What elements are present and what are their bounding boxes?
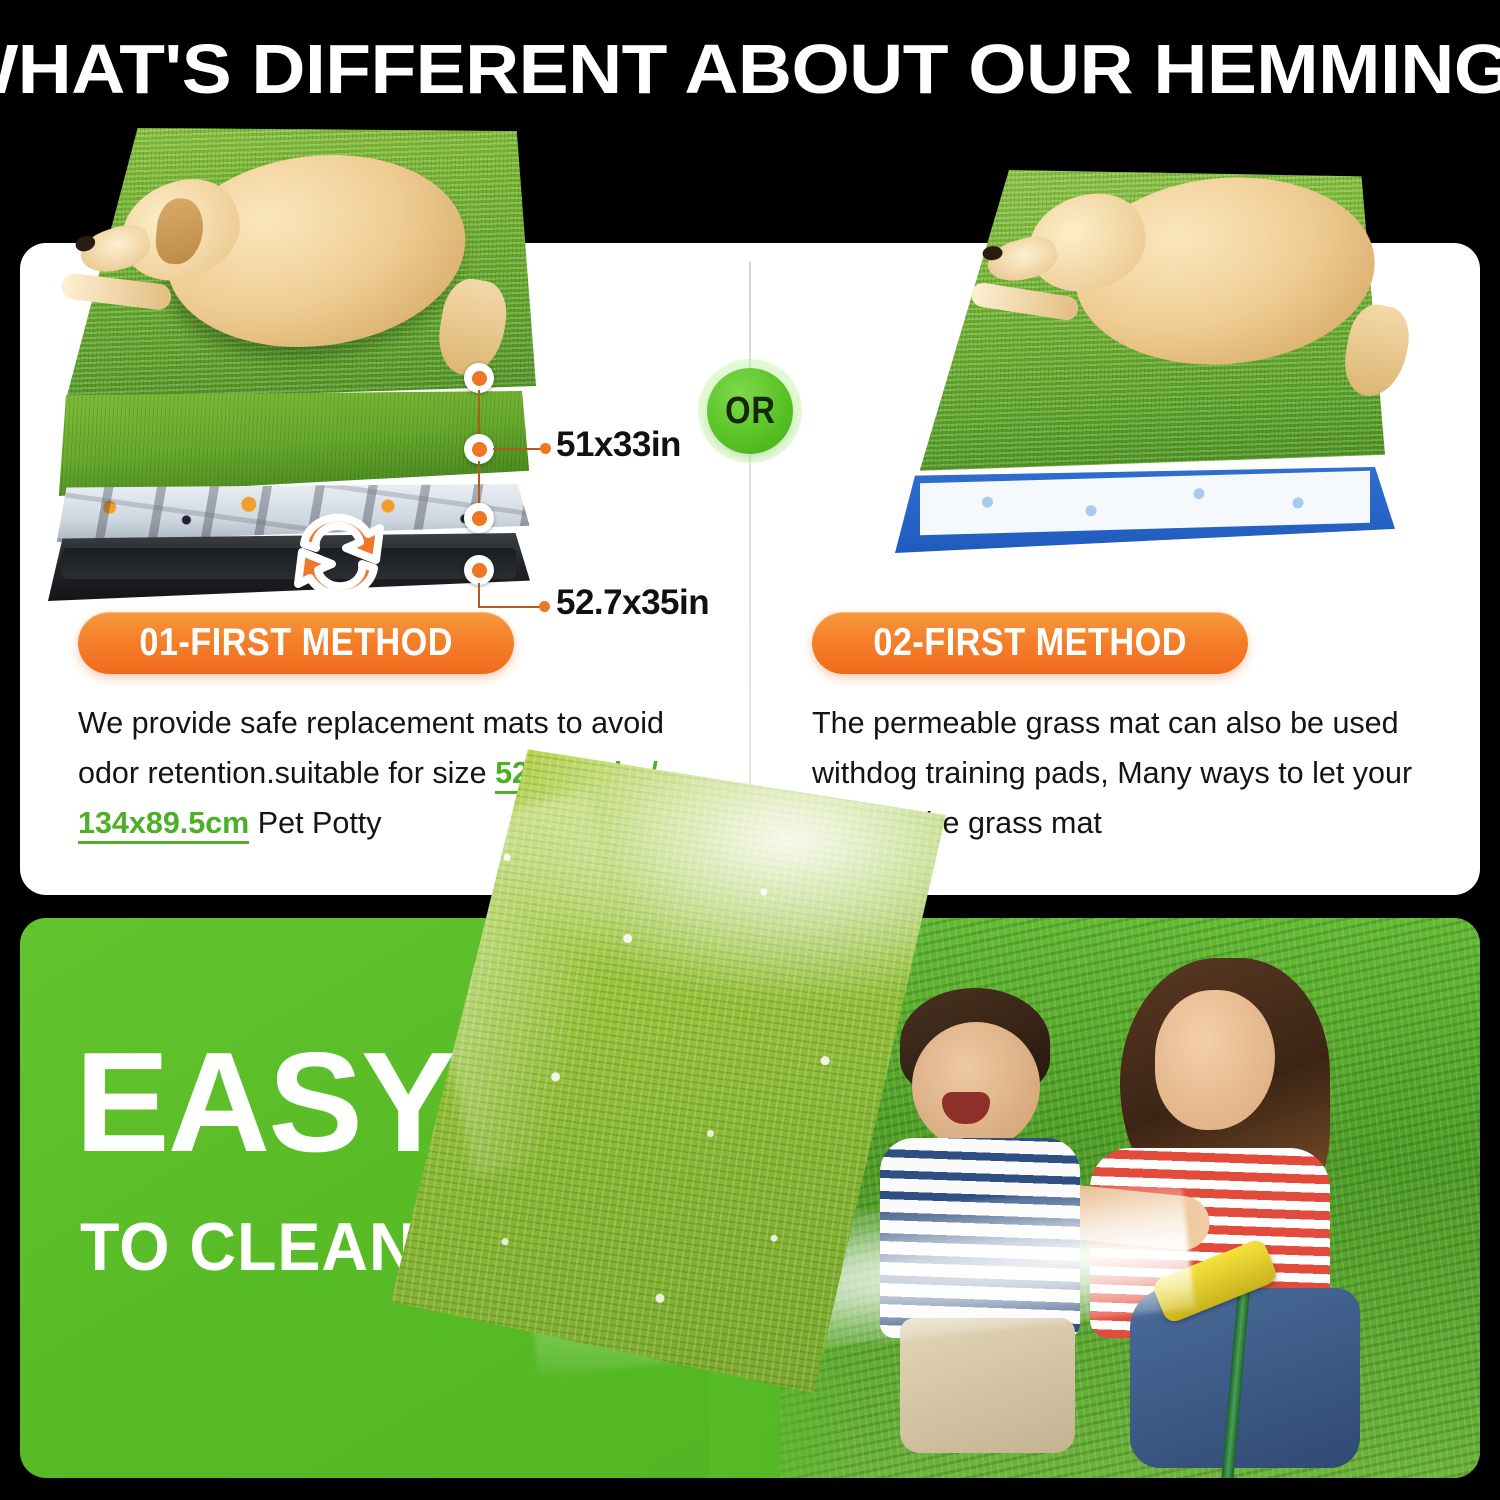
boy-shorts <box>900 1318 1075 1453</box>
swap-arrows-icon <box>284 504 394 608</box>
or-badge: OR <box>707 368 793 454</box>
callout-dot-second-mat <box>464 434 494 464</box>
method-badge-02: 02-FIRST METHOD <box>812 612 1248 674</box>
callout-line-52x35 <box>478 606 542 608</box>
dimension-label-grass-mat: 51x33in <box>556 425 681 465</box>
callout-dot-top-mat <box>464 363 494 393</box>
easy-headline: EASY <box>75 1038 454 1169</box>
dimension-label-tray: 52.7x35in <box>556 583 709 623</box>
callout-endpoint-51x33 <box>540 443 551 454</box>
method-badge-02-label: 02-FIRST METHOD <box>873 621 1187 665</box>
callout-endpoint-52x35 <box>539 601 550 612</box>
callout-line-vertical-1 <box>478 390 480 437</box>
training-pad-layer <box>895 467 1395 553</box>
method-badge-01: 01-FIRST METHOD <box>78 612 514 674</box>
or-badge-label: OR <box>725 390 776 433</box>
callout-line-vertical-2 <box>478 461 480 505</box>
training-pad-surface <box>920 471 1370 535</box>
page-title: WHAT'S DIFFERENT ABOUT OUR HEMMING GRASS… <box>0 34 1500 104</box>
callout-line-vertical-3 <box>478 583 480 608</box>
callout-line-51x33 <box>493 448 543 450</box>
boy-face <box>912 1022 1040 1150</box>
callout-dot-pee-pad <box>464 503 494 533</box>
boy-figure <box>870 988 1120 1388</box>
grass-mat-replacement-layer <box>54 391 534 496</box>
method-01-text-after: Pet Potty <box>249 806 381 840</box>
method-badge-01-label: 01-FIRST METHOD <box>139 621 453 665</box>
callout-dot-tray <box>464 555 494 585</box>
to-clean-subhead: TO CLEAN <box>80 1208 417 1286</box>
